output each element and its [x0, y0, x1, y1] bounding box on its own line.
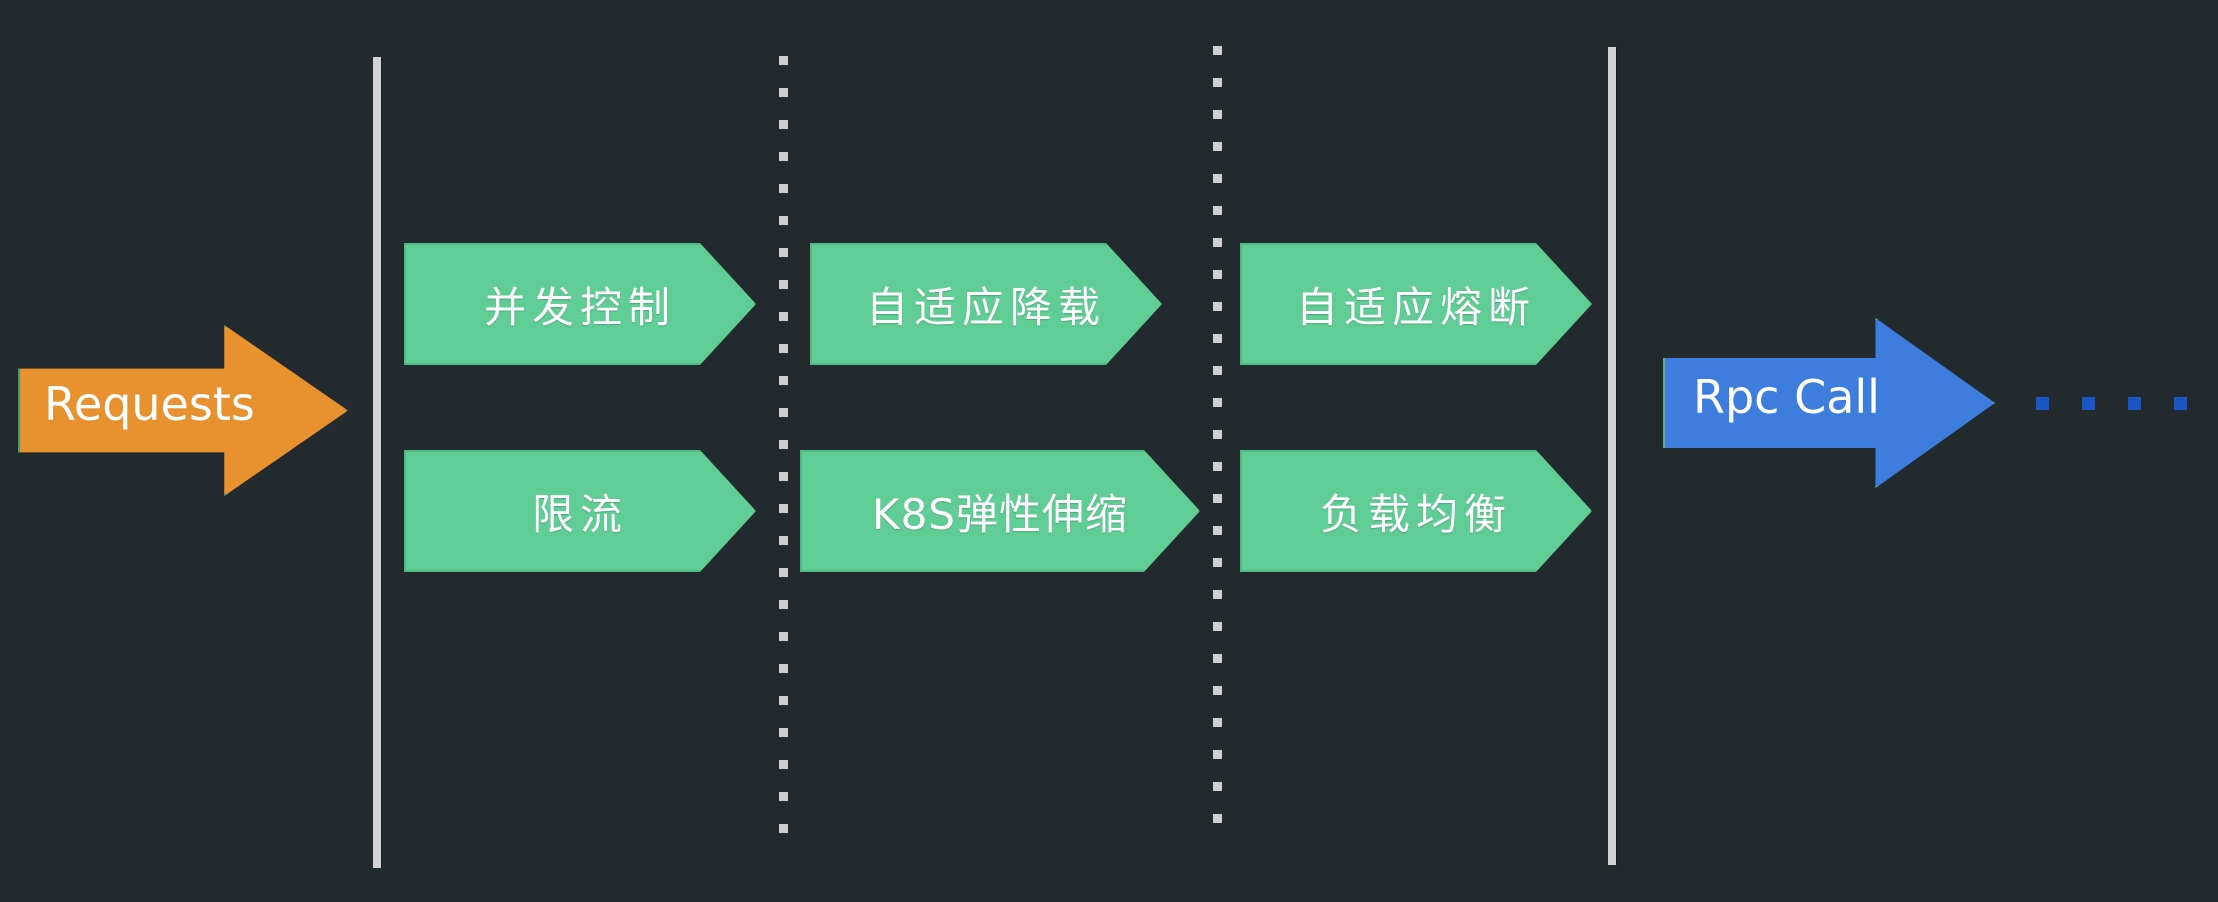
stage-top-3-label: 自适应熔断	[1296, 274, 1536, 335]
trailing-dot	[2174, 397, 2187, 410]
stage-bottom-3[interactable]: 负载均衡	[1240, 450, 1592, 572]
lane-separator-1	[373, 57, 381, 868]
trailing-dot	[2128, 397, 2141, 410]
requests-arrow[interactable]: Requests	[18, 325, 348, 496]
stage-top-2[interactable]: 自适应降载	[810, 243, 1162, 365]
stage-top-3[interactable]: 自适应熔断	[1240, 243, 1592, 365]
stage-top-1[interactable]: 并发控制	[404, 243, 756, 365]
diagram-canvas: Requests 并发控制 自适应降载 自适应熔断 限流 K8S弹性伸缩 负载均…	[0, 0, 2218, 902]
lane-separator-2	[779, 56, 788, 856]
requests-arrow-label: Requests	[44, 377, 255, 431]
trailing-dot	[2036, 397, 2049, 410]
stage-bottom-2-label: K8S弹性伸缩	[872, 481, 1128, 542]
stage-bottom-2[interactable]: K8S弹性伸缩	[800, 450, 1200, 572]
lane-separator-3	[1213, 46, 1222, 856]
stage-top-2-label: 自适应降载	[866, 274, 1106, 335]
trailing-dots	[2036, 397, 2187, 410]
rpc-call-arrow[interactable]: Rpc Call	[1663, 318, 1995, 488]
trailing-dot	[2082, 397, 2095, 410]
lane-separator-4	[1608, 47, 1616, 865]
stage-bottom-1-label: 限流	[532, 481, 628, 542]
rpc-call-arrow-label: Rpc Call	[1693, 370, 1880, 424]
stage-bottom-1[interactable]: 限流	[404, 450, 756, 572]
stage-bottom-3-label: 负载均衡	[1320, 481, 1512, 542]
stage-top-1-label: 并发控制	[484, 274, 676, 335]
